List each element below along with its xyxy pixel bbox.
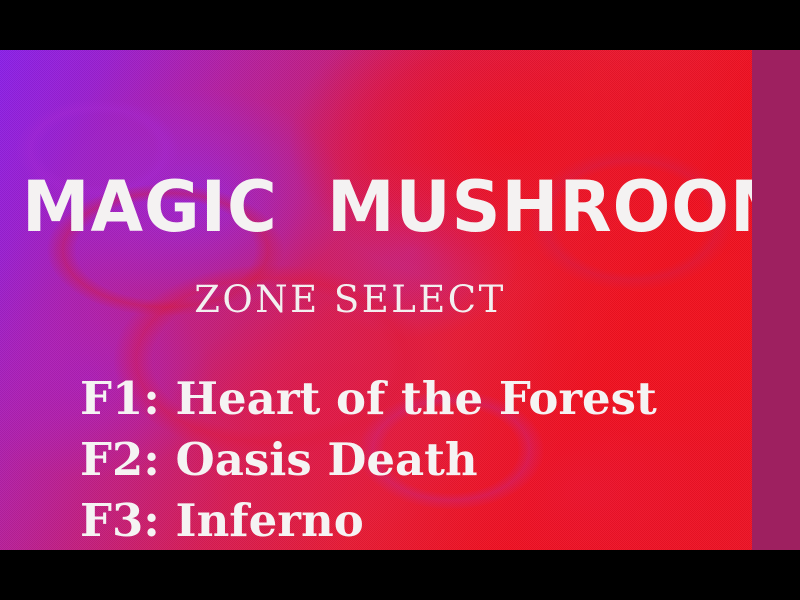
zone-menu-item-f2[interactable]: F2: Oasis Death [80, 429, 740, 490]
letterbox-bar-bottom [0, 550, 800, 600]
zone-select-menu: F1: Heart of the Forest F2: Oasis Death … [80, 368, 740, 550]
letterbox-bar-top [0, 0, 800, 50]
game-viewport: MAGIC MUSHROOM ZONE SELECT F1: Heart of … [0, 50, 752, 550]
zone-select-heading: ZONE SELECT [0, 281, 700, 318]
right-side-strip [752, 50, 800, 550]
game-screen: MAGIC MUSHROOM ZONE SELECT F1: Heart of … [0, 0, 800, 600]
game-title: MAGIC MUSHROOM [22, 172, 720, 242]
title-screen-content: MAGIC MUSHROOM ZONE SELECT F1: Heart of … [0, 50, 752, 550]
zone-menu-item-f3[interactable]: F3: Inferno [80, 490, 740, 550]
zone-menu-item-f1[interactable]: F1: Heart of the Forest [80, 368, 740, 429]
